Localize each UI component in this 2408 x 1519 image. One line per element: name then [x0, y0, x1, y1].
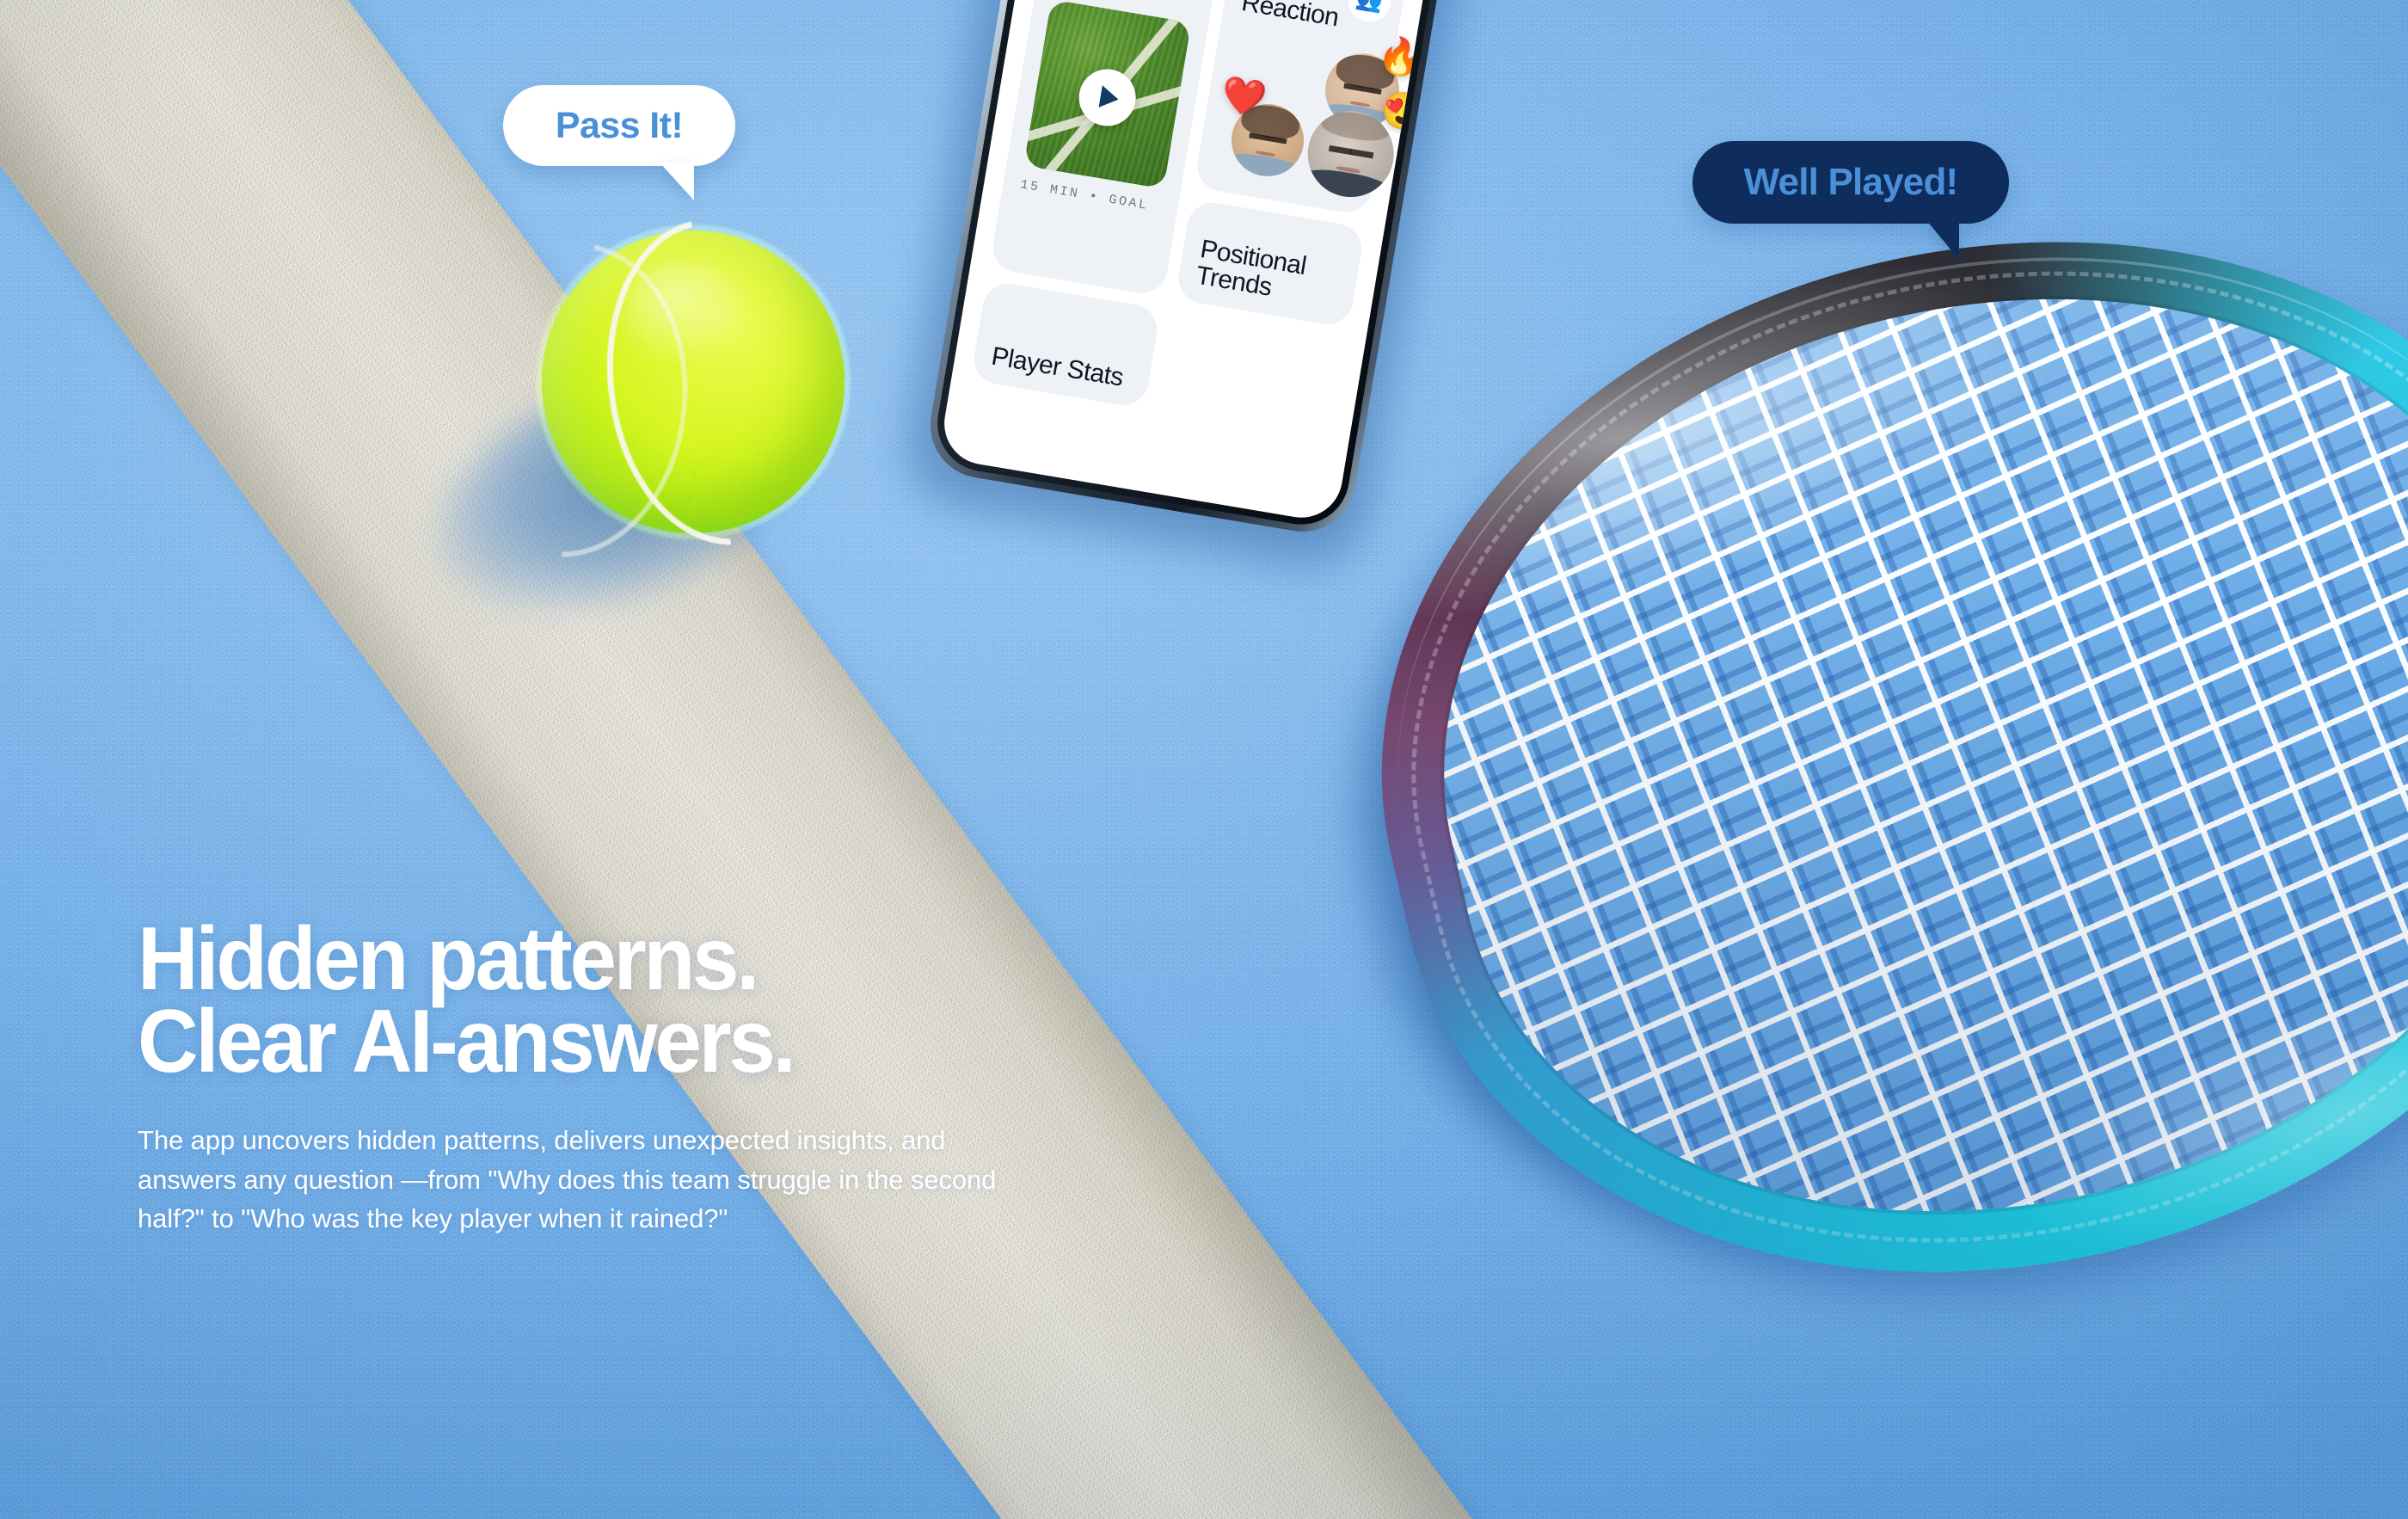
speech-bubble-well-played-text: Well Played! — [1744, 161, 1958, 204]
updates-grid: Key Moments 15 MIN • GOAL 👥 Fan Reaction — [970, 0, 1408, 440]
speech-bubble-pass-it: Pass It! — [503, 85, 735, 166]
hero-scene: i CHELSEA WINS A TENSE LATEST UPDATES▲ K… — [0, 0, 2408, 1519]
card-fan-reaction[interactable]: 👥 Fan Reaction 🔥 ❤️ 😍 — [1194, 0, 1409, 216]
tennis-ball — [542, 231, 845, 533]
headline-line-2: Clear AI-answers. — [138, 1001, 1091, 1084]
speech-bubble-tail — [1916, 220, 1959, 260]
heart-emoji-icon: ❤️ — [1219, 76, 1269, 119]
hero-body-text: The app uncovers hidden patterns, delive… — [138, 1121, 1006, 1239]
speech-bubble-tail — [648, 163, 694, 200]
card-positional-trends[interactable]: Positional Trends — [1175, 199, 1366, 328]
hero-copy: Hidden patterns. Clear AI-answers. The a… — [138, 919, 1152, 1239]
fan-avatars: 🔥 ❤️ 😍 — [1213, 28, 1378, 200]
page-title: Hidden patterns. Clear AI-answers. — [138, 919, 1091, 1083]
speech-bubble-well-played: Well Played! — [1692, 141, 2009, 224]
card-positional-trends-title: Positional Trends — [1194, 237, 1342, 312]
card-player-stats[interactable]: Player Stats — [970, 280, 1161, 409]
card-player-stats-title: Player Stats — [990, 343, 1125, 391]
key-moments-thumbnail[interactable] — [1023, 0, 1191, 189]
speech-bubble-pass-it-text: Pass It! — [556, 105, 683, 147]
